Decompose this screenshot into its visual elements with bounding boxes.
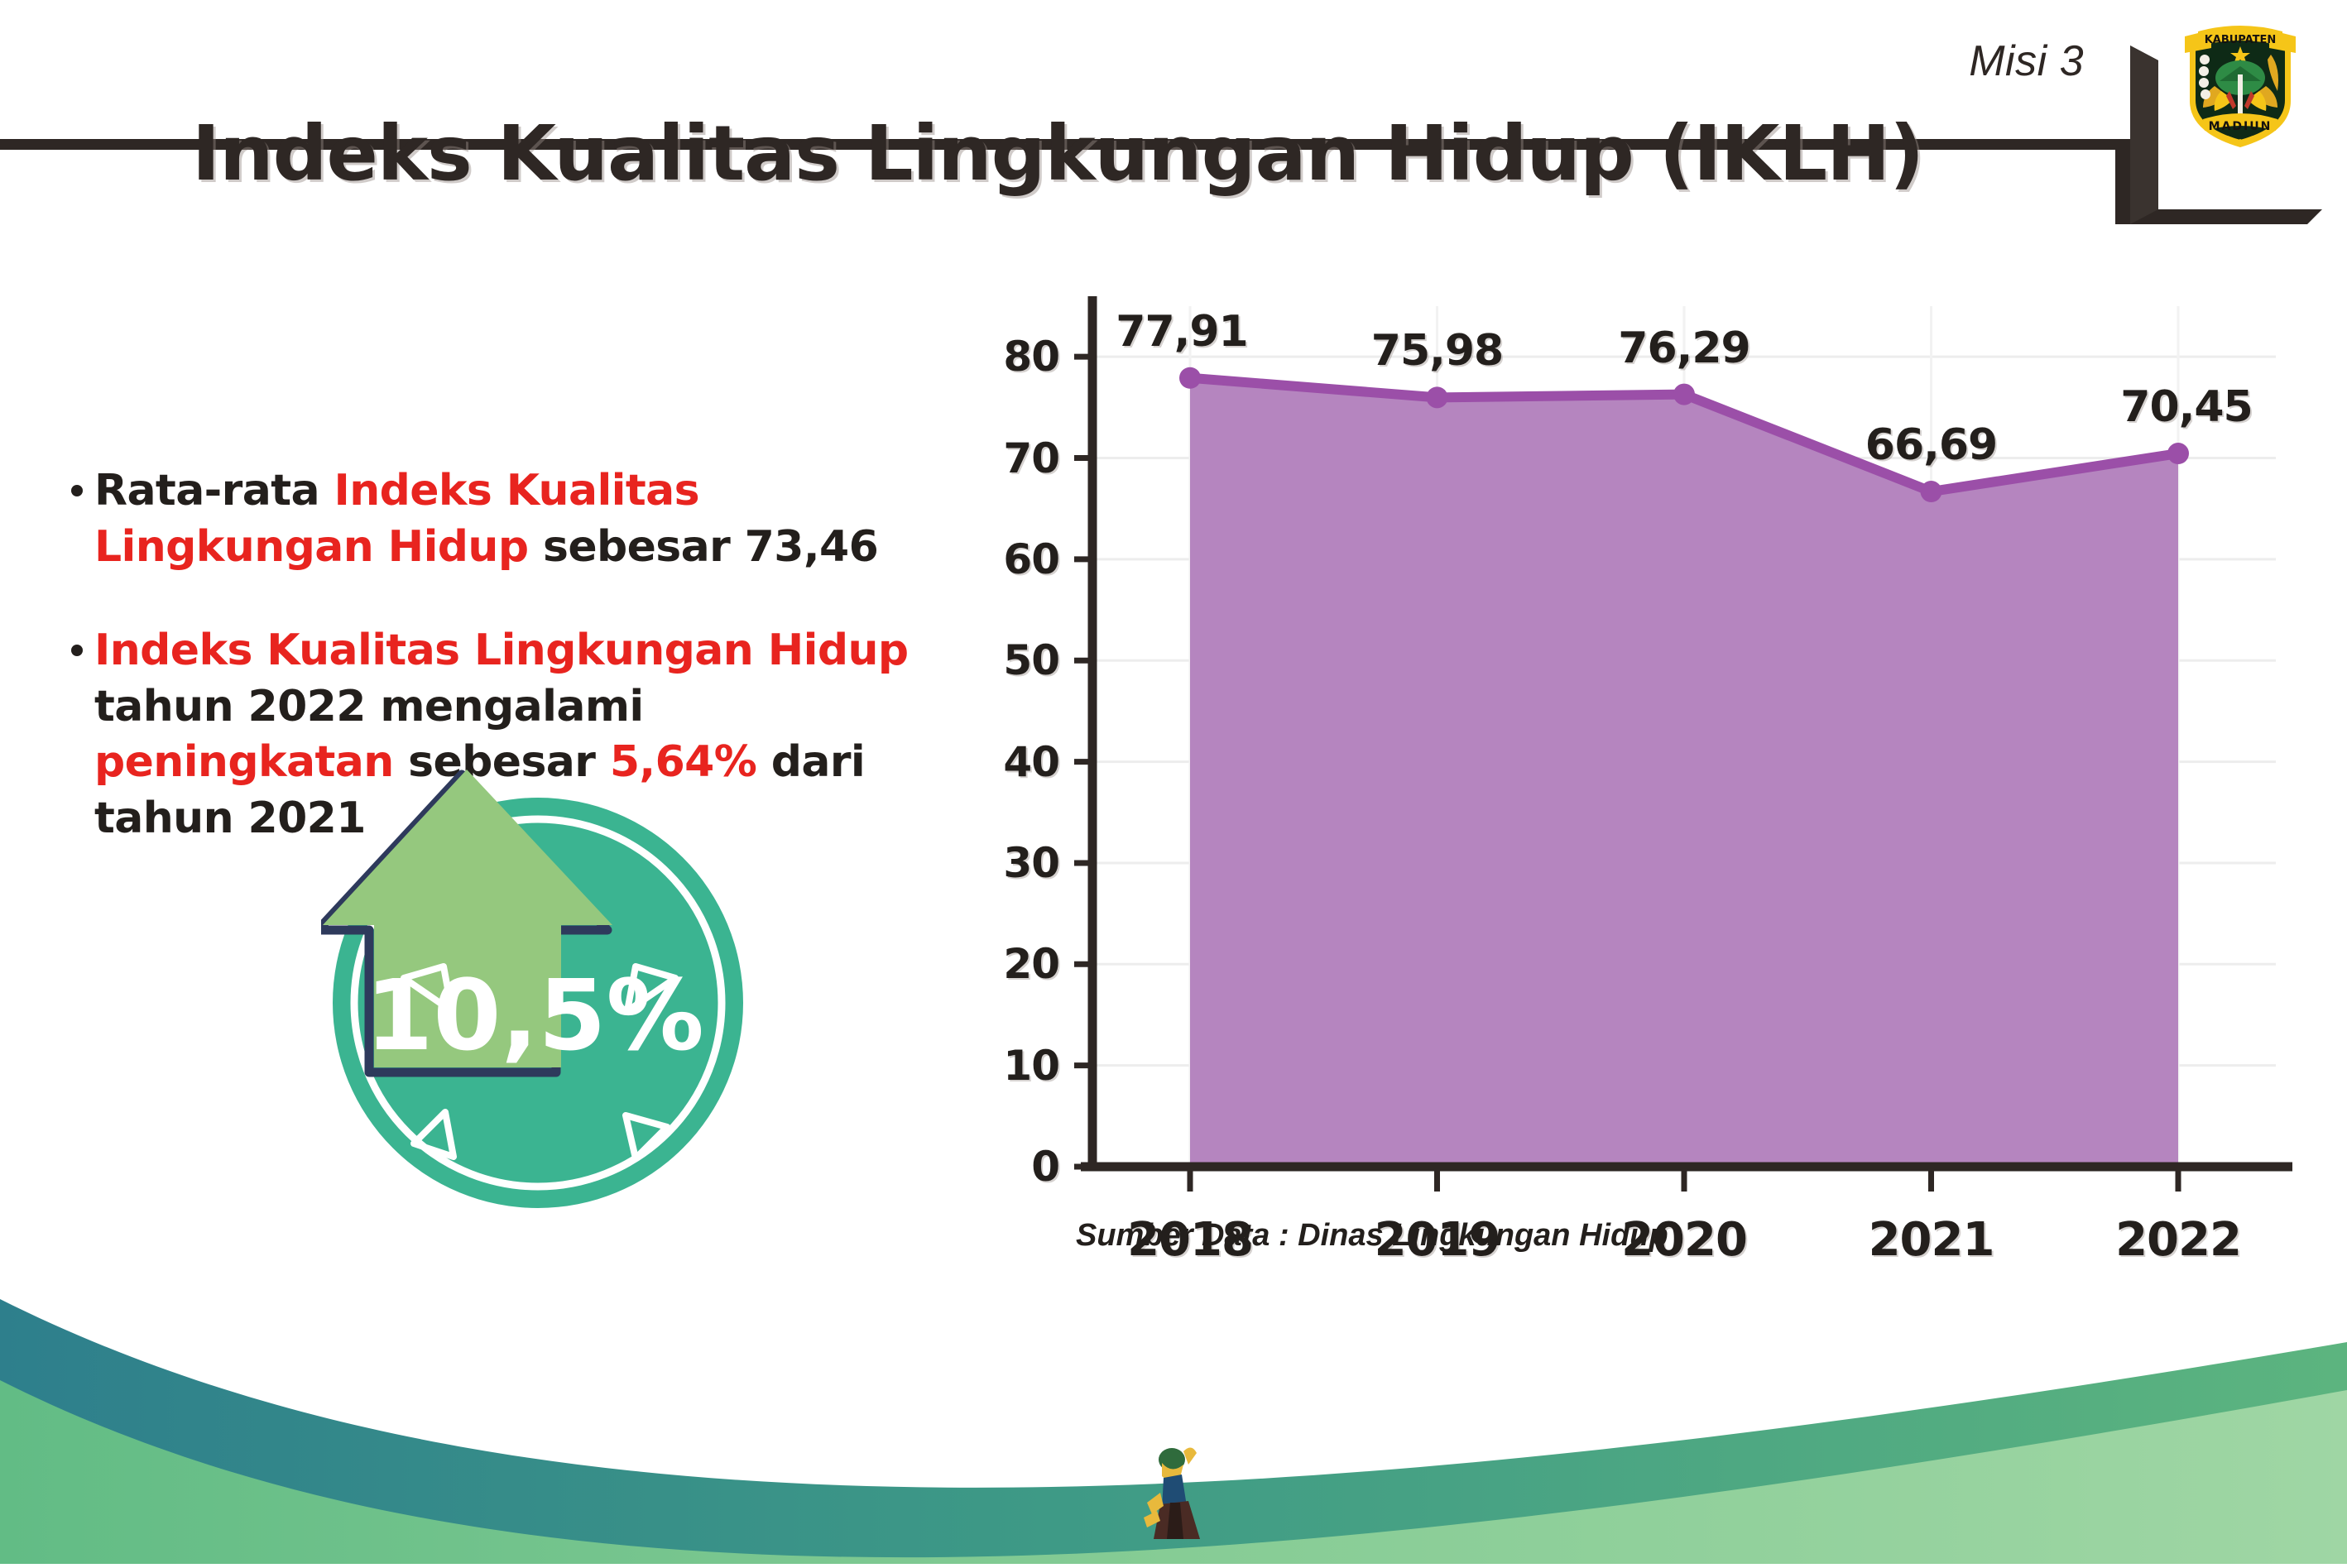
data-point <box>2167 443 2189 464</box>
list-item: Rata-rata Indeks Kualitas Lingkungan Hid… <box>66 463 943 575</box>
y-axis-tick: 40 <box>1003 738 1059 786</box>
bullet-1-seg1: Rata-rata <box>94 466 334 515</box>
data-label: 75,98 <box>1371 326 1503 376</box>
statistics-figure-icon <box>1142 1441 1221 1541</box>
data-label: 77,91 <box>1116 307 1247 357</box>
badge-value: 10,5% <box>365 958 703 1072</box>
data-label: 70,45 <box>2120 382 2252 432</box>
data-point <box>1921 481 1942 502</box>
data-label: 76,29 <box>1618 324 1749 373</box>
page-title: Indeks Kualitas Lingkungan Hidup (IKLH) <box>0 109 2115 198</box>
y-axis-tick: 20 <box>1003 940 1059 988</box>
kabupaten-madiun-logo-icon: KABUPATEN MADIUN <box>2178 15 2302 154</box>
y-axis-tick: 80 <box>1003 333 1059 381</box>
iklh-area-chart: 01020304050607080 20182019202020212022 7… <box>952 281 2292 1299</box>
increase-badge: 10,5% <box>321 745 768 1208</box>
y-axis-tick: 60 <box>1003 535 1059 583</box>
data-label: 66,69 <box>1865 420 1997 470</box>
bullet-2-seg2: Indeks Kualitas Lingkungan Hidup <box>94 626 909 675</box>
logo-bottom-text: MADIUN <box>2209 120 2273 133</box>
mission-label: Misi 3 <box>1969 36 2084 86</box>
data-point <box>1427 386 1448 408</box>
x-axis-tick: 2022 <box>2115 1213 2241 1267</box>
bullet-2-seg3: tahun 2022 mengalami <box>94 682 644 731</box>
y-axis-tick: 30 <box>1003 839 1059 887</box>
y-axis-tick: 0 <box>1031 1143 1059 1191</box>
y-axis-tick: 70 <box>1003 434 1059 482</box>
y-axis-tick: 10 <box>1003 1042 1059 1090</box>
bullet-1-seg3: sebesar 73,46 <box>528 522 878 572</box>
data-point <box>1673 384 1695 405</box>
data-point <box>1179 367 1201 389</box>
area-fill <box>1190 378 2178 1167</box>
y-axis-tick: 50 <box>1003 636 1059 684</box>
logo-top-text: KABUPATEN <box>2205 34 2277 46</box>
x-axis-tick: 2021 <box>1869 1213 1994 1267</box>
source-note: Sumber Data : Dinas Lingkungan Hidup <box>1076 1218 1668 1254</box>
